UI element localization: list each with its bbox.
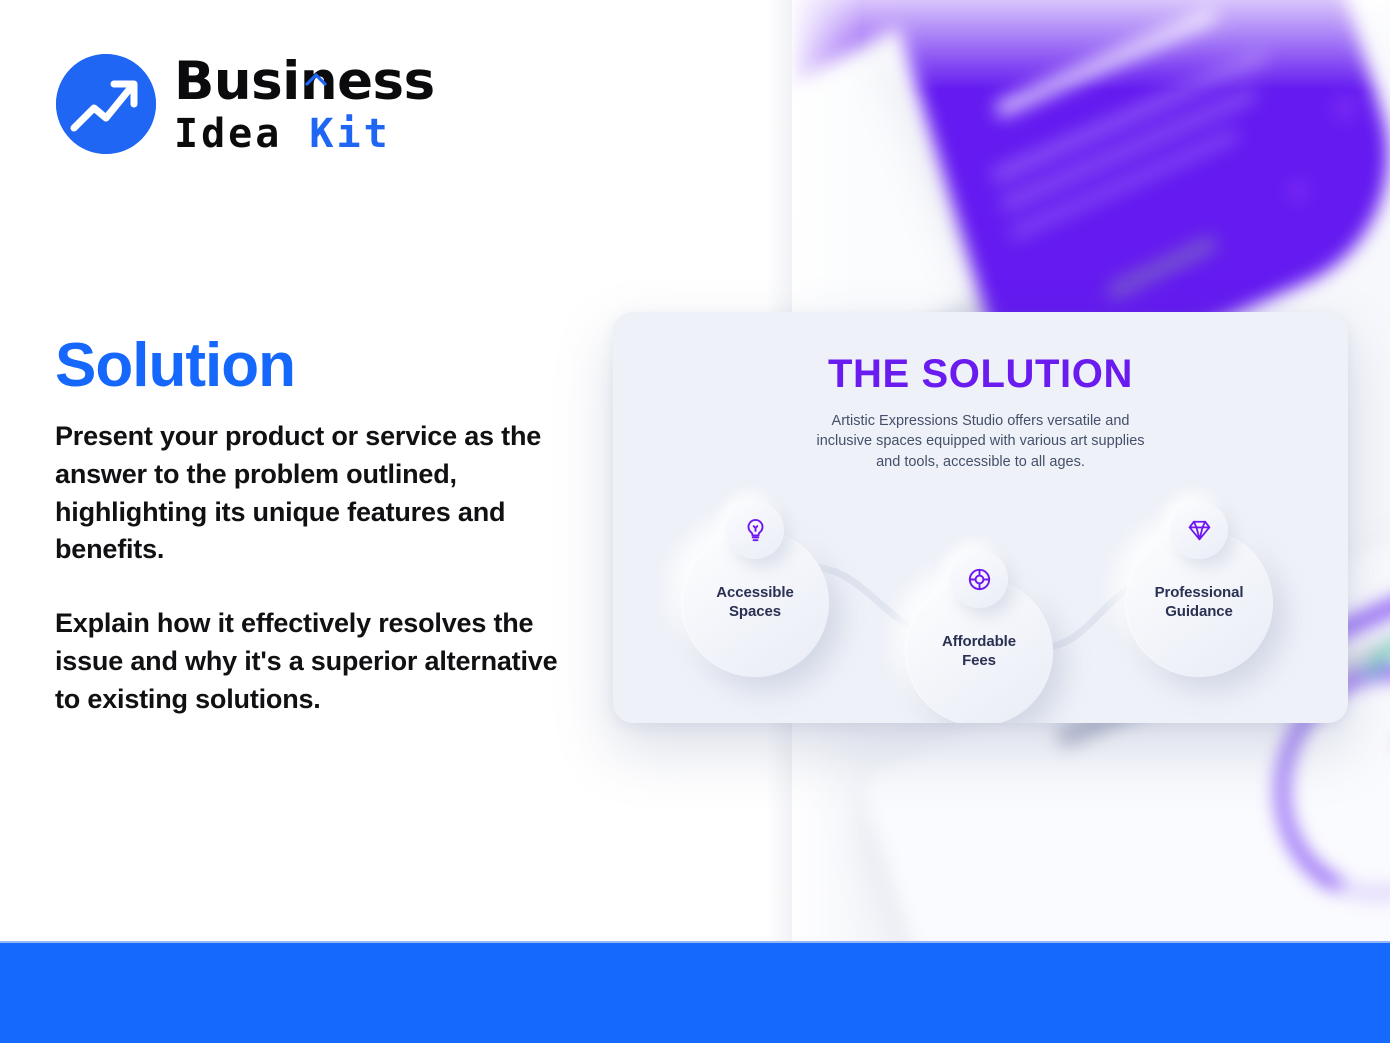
background-dot [1332, 95, 1358, 121]
brand-wordmark: Business Idea Kit [174, 53, 435, 154]
pillar-label: Accessible Spaces [716, 584, 793, 622]
solution-card-description: Artistic Expressions Studio offers versa… [806, 411, 1156, 472]
diamond-icon [1170, 501, 1228, 559]
brand-name-idea: Idea [174, 111, 282, 157]
solution-card: THE SOLUTION Artistic Expressions Studio… [613, 312, 1348, 723]
pillar-label-line1: Affordable [942, 633, 1016, 650]
background-top-fade [792, 0, 1390, 90]
slide-canvas: Business Idea Kit Solution Present your … [0, 0, 1390, 1043]
body-paragraph-1: Present your product or service as the a… [55, 418, 585, 569]
trending-up-arrow-icon [56, 54, 156, 154]
solution-pillars: Accessible Spaces [613, 472, 1348, 722]
brand-logo: Business Idea Kit [56, 53, 435, 154]
brand-name-kit: Kit [309, 111, 390, 157]
lightbulb-icon [726, 501, 784, 559]
lifebuoy-icon [950, 550, 1008, 608]
footer-bar [0, 941, 1390, 1043]
solution-card-title: THE SOLUTION [613, 352, 1348, 397]
body-copy: Present your product or service as the a… [55, 418, 585, 719]
pillar-label: Affordable Fees [942, 633, 1016, 671]
pillar-label-line1: Accessible [716, 584, 793, 601]
pillar-label-line2: Fees [962, 652, 996, 669]
pillar-label-line2: Spaces [729, 603, 781, 620]
page-title: Solution [55, 335, 295, 397]
footer-bar-hairline [0, 941, 1390, 943]
body-paragraph-2: Explain how it effectively resolves the … [55, 605, 585, 718]
background-dot [1287, 180, 1309, 202]
pillar-label-line2: Guidance [1165, 603, 1233, 620]
circumflex-accent-icon [305, 42, 327, 56]
brand-name-secondary: Idea Kit [174, 114, 435, 154]
pillar-label-line1: Professional [1155, 584, 1244, 601]
pillar-label: Professional Guidance [1155, 584, 1244, 622]
brand-name-primary: Business [174, 55, 435, 108]
